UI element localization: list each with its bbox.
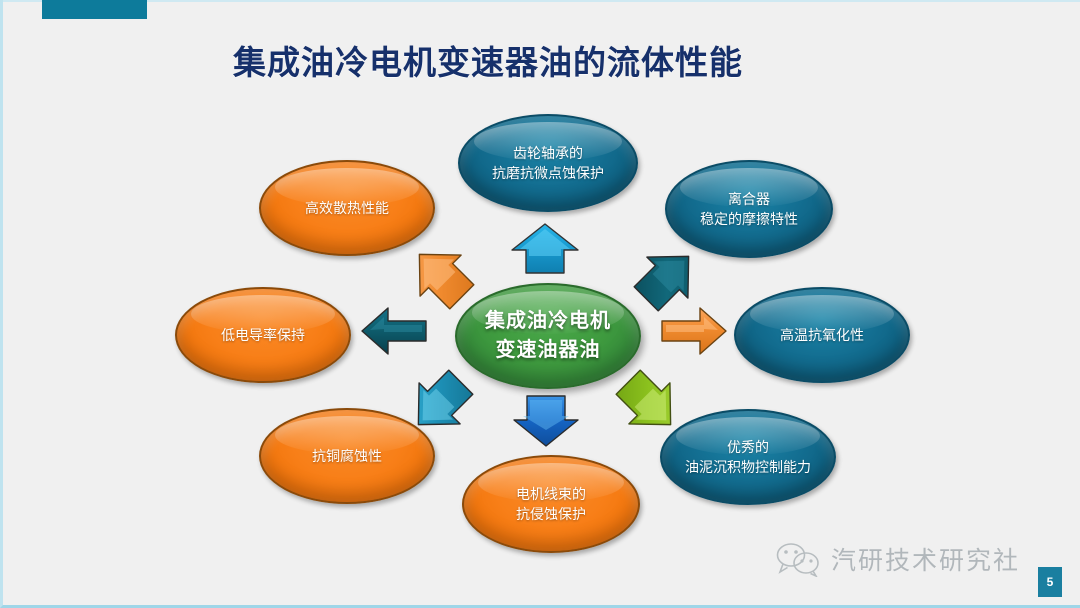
node-top-line2: 抗磨抗微点蚀保护 <box>492 163 604 183</box>
arrow-up-left-icon <box>407 243 477 311</box>
node-top-right-line1: 离合器 <box>700 189 798 209</box>
page-number-badge: 5 <box>1038 567 1062 597</box>
arrow-down-left-icon <box>406 368 476 436</box>
node-bottom-right-line1: 优秀的 <box>685 437 811 457</box>
node-right-label: 高温抗氧化性 <box>770 325 874 345</box>
node-bottom-right-label: 优秀的 油泥沉积物控制能力 <box>675 437 821 478</box>
node-bottom-line1: 电机线束的 <box>516 484 586 504</box>
watermark: 汽研技术研究社 <box>775 541 1020 577</box>
arrow-down-right-icon <box>613 368 683 436</box>
wechat-icon <box>775 541 821 577</box>
center-node-label: 集成油冷电机 变速油器油 <box>475 307 621 365</box>
watermark-text: 汽研技术研究社 <box>831 541 1020 577</box>
center-node-line1: 集成油冷电机 <box>485 307 611 336</box>
radial-diagram: 集成油冷电机 变速油器油 齿轮轴承的 抗磨抗微点蚀保护 离合器 稳定的摩擦特性 … <box>3 0 1080 608</box>
node-top-left-label: 高效散热性能 <box>295 198 399 218</box>
node-bottom-left-line1: 抗铜腐蚀性 <box>312 446 382 466</box>
node-top-right-line2: 稳定的摩擦特性 <box>700 209 798 229</box>
node-bottom-line2: 抗侵蚀保护 <box>516 504 586 524</box>
diagram-node-bottom[interactable]: 电机线束的 抗侵蚀保护 <box>462 455 640 553</box>
diagram-node-left[interactable]: 低电导率保持 <box>175 287 351 383</box>
node-bottom-left-label: 抗铜腐蚀性 <box>302 446 392 466</box>
diagram-node-top-left[interactable]: 高效散热性能 <box>259 160 435 256</box>
node-bottom-right-line2: 油泥沉积物控制能力 <box>685 457 811 477</box>
diagram-node-right[interactable]: 高温抗氧化性 <box>734 287 910 383</box>
arrow-left-icon <box>358 305 428 357</box>
node-bottom-label: 电机线束的 抗侵蚀保护 <box>506 484 596 525</box>
arrow-down-icon <box>511 394 581 448</box>
diagram-node-top[interactable]: 齿轮轴承的 抗磨抗微点蚀保护 <box>458 114 638 212</box>
arrow-right-icon <box>660 305 728 357</box>
node-top-line1: 齿轮轴承的 <box>492 143 604 163</box>
diagram-node-top-right[interactable]: 离合器 稳定的摩擦特性 <box>665 160 833 258</box>
node-top-right-label: 离合器 稳定的摩擦特性 <box>690 189 808 230</box>
arrow-up-right-icon <box>631 245 701 313</box>
center-node-line2: 变速油器油 <box>485 336 611 365</box>
node-top-label: 齿轮轴承的 抗磨抗微点蚀保护 <box>482 143 614 184</box>
node-top-left-line1: 高效散热性能 <box>305 198 389 218</box>
node-right-line1: 高温抗氧化性 <box>780 325 864 345</box>
node-left-line1: 低电导率保持 <box>221 325 305 345</box>
diagram-node-bottom-right[interactable]: 优秀的 油泥沉积物控制能力 <box>660 409 836 505</box>
arrow-up-icon <box>508 222 582 276</box>
slide-canvas: 集成油冷电机变速器油的流体性能 <box>0 0 1080 608</box>
node-left-label: 低电导率保持 <box>211 325 315 345</box>
